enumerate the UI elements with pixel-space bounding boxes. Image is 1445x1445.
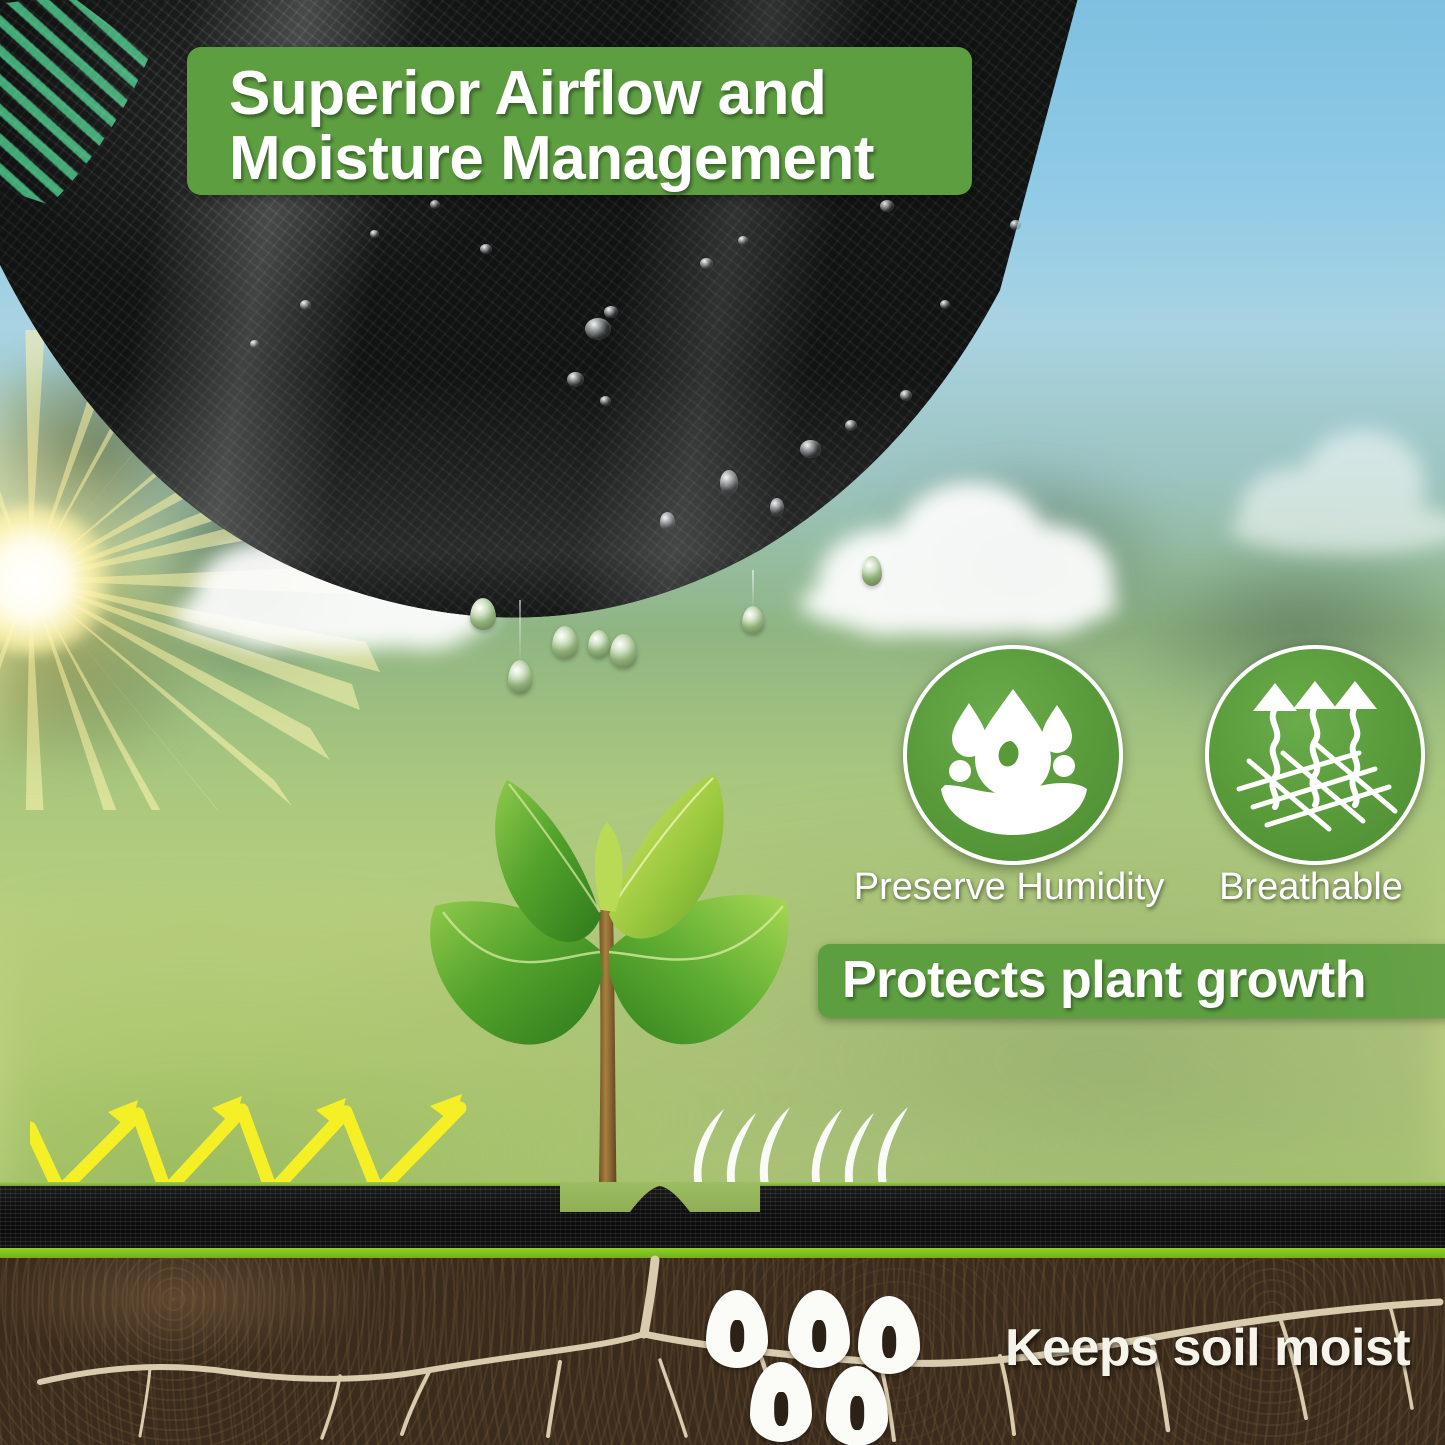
- falling-drop: [508, 660, 532, 694]
- water-drop-icon: [706, 1290, 768, 1368]
- cloud-far-right: [1230, 420, 1445, 560]
- headline-text: Superior Airflow and Moisture Management: [229, 61, 949, 191]
- water-drop-icon: [858, 1296, 920, 1374]
- plant-growth-text: Protects plant growth: [842, 950, 1366, 1010]
- airflow-arrows-icon: [1209, 649, 1421, 861]
- hanging-drop: [552, 626, 578, 659]
- headline-line-1: Superior Airflow and: [229, 61, 949, 126]
- hanging-drop: [742, 606, 764, 634]
- plant-growth-banner: Protects plant growth: [818, 944, 1445, 1018]
- hanging-drop: [610, 634, 637, 668]
- soil-moisture-drop-icons: [700, 1290, 930, 1445]
- keeps-soil-moist-text: Keeps soil moist: [1005, 1318, 1435, 1388]
- drop-trail: [519, 600, 521, 664]
- headline-banner: Superior Airflow and Moisture Management: [187, 47, 972, 195]
- badge-label-breathable: Breathable: [1155, 866, 1445, 909]
- water-droplet-icon: [907, 649, 1119, 861]
- hanging-drop: [470, 598, 496, 630]
- water-drop-icon: [788, 1290, 850, 1368]
- badge-label-preserve-humidity: Preserve Humidity: [853, 866, 1165, 909]
- hanging-drop: [588, 630, 610, 658]
- falling-drop: [862, 556, 882, 586]
- drop-trail: [752, 570, 754, 610]
- badge-breathable: [1205, 645, 1425, 865]
- badge-preserve-humidity: [903, 645, 1123, 865]
- product-infographic: Superior Airflow and Moisture Management…: [0, 0, 1445, 1445]
- water-drop-icon: [750, 1362, 812, 1442]
- water-drop-icon: [826, 1366, 888, 1445]
- headline-line-2: Moisture Management: [229, 126, 949, 191]
